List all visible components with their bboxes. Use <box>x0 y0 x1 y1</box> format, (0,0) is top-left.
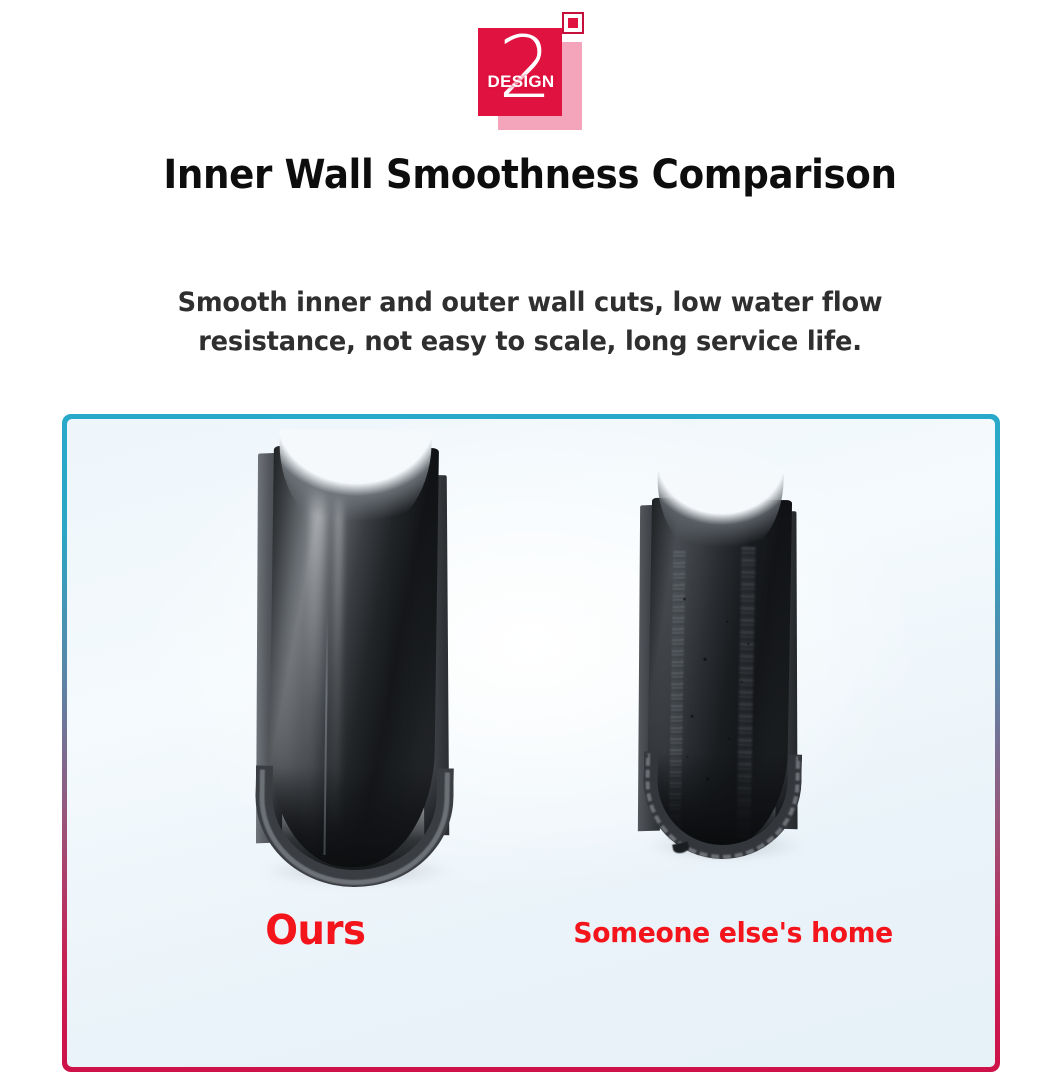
product-image-competitor <box>619 477 819 877</box>
page-title: Inner Wall Smoothness Comparison <box>37 152 1023 198</box>
logo-corner-square-icon <box>564 14 582 32</box>
product-label-competitor: Someone else's home <box>573 916 893 949</box>
product-image-ours <box>233 435 473 895</box>
comparison-panel-inner: Ours Someone else's home <box>67 419 995 1067</box>
comparison-panel: Ours Someone else's home <box>62 414 1000 1072</box>
brand-logo: 2 DESIGN <box>476 14 584 132</box>
logo-wordmark: DESIGN <box>480 72 562 92</box>
page-subtitle: Smooth inner and outer wall cuts, low wa… <box>112 283 948 361</box>
product-label-ours: Ours <box>265 906 365 954</box>
